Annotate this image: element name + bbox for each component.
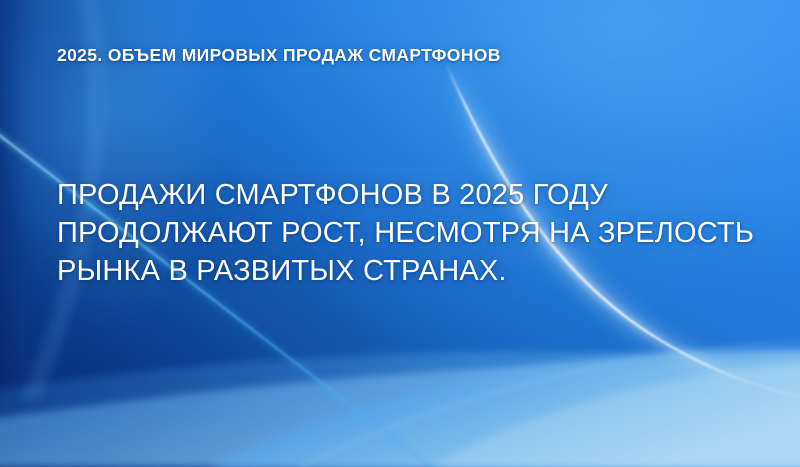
slide-headline: ПРОДАЖИ СМАРТФОНОВ В 2025 ГОДУ ПРОДОЛЖАЮ… — [57, 176, 757, 290]
headline-line-3: РЫНКА В РАЗВИТЫХ СТРАНАХ. — [57, 252, 757, 290]
headline-line-2: ПРОДОЛЖАЮТ РОСТ, НЕСМОТРЯ НА ЗРЕЛОСТЬ — [57, 214, 757, 252]
slide-content: 2025. ОБЪЕМ МИРОВЫХ ПРОДАЖ СМАРТФОНОВ ПР… — [0, 0, 800, 467]
slide-canvas: 2025. ОБЪЕМ МИРОВЫХ ПРОДАЖ СМАРТФОНОВ ПР… — [0, 0, 800, 467]
slide-eyebrow-title: 2025. ОБЪЕМ МИРОВЫХ ПРОДАЖ СМАРТФОНОВ — [57, 45, 501, 66]
headline-line-1: ПРОДАЖИ СМАРТФОНОВ В 2025 ГОДУ — [57, 176, 757, 214]
